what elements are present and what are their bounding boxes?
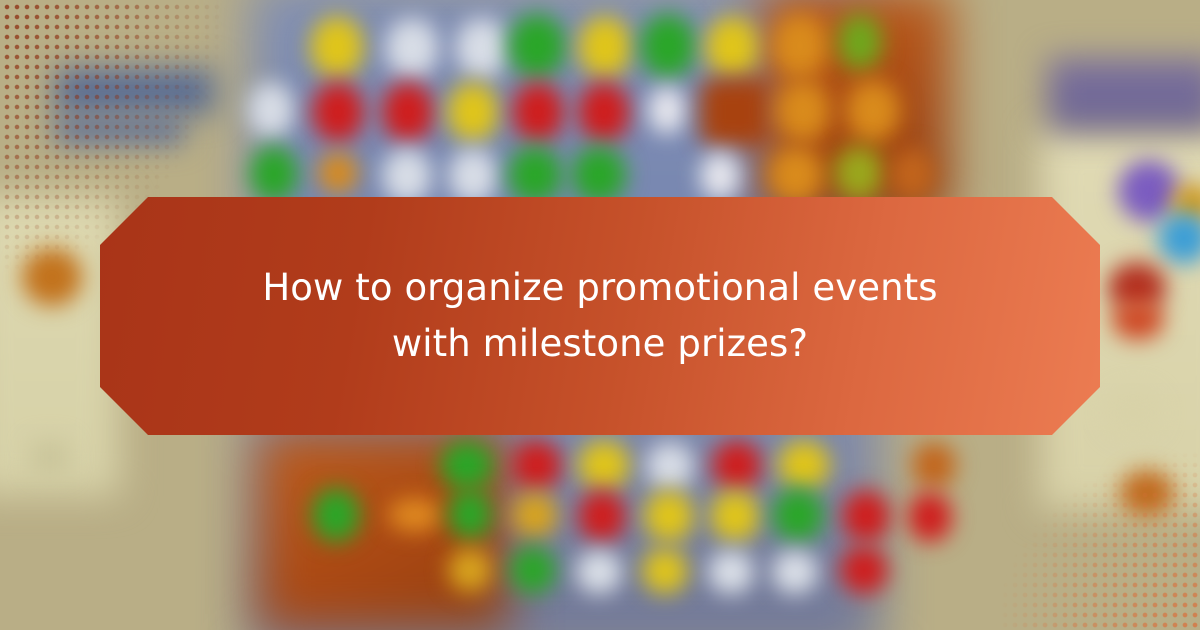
game-piece	[512, 82, 564, 142]
game-piece	[708, 550, 754, 594]
game-piece	[772, 550, 818, 594]
game-piece	[572, 146, 626, 204]
gem-piece-purple	[1118, 160, 1180, 222]
game-piece	[382, 148, 432, 204]
game-piece	[578, 82, 630, 142]
game-piece	[440, 440, 494, 490]
game-piece	[712, 440, 762, 490]
share-card-canvas: How to organize promotional events with …	[0, 0, 1200, 630]
game-piece	[778, 440, 830, 490]
game-piece	[578, 490, 626, 542]
game-piece	[310, 16, 364, 78]
game-piece	[510, 546, 556, 594]
game-tile	[700, 78, 770, 146]
game-piece	[388, 498, 442, 532]
game-piece	[318, 152, 358, 194]
game-piece	[644, 490, 694, 542]
game-piece	[890, 148, 934, 200]
gem-piece-orange	[1112, 300, 1164, 340]
right-side-card-header	[1048, 58, 1200, 130]
game-piece	[710, 490, 760, 542]
game-piece	[512, 440, 562, 490]
game-piece	[578, 440, 630, 490]
game-piece	[834, 146, 884, 200]
title-banner: How to organize promotional events with …	[100, 197, 1100, 435]
game-piece	[508, 146, 562, 204]
game-piece	[640, 14, 696, 78]
game-piece	[447, 82, 499, 142]
game-piece	[385, 18, 439, 78]
game-piece	[512, 492, 558, 538]
game-piece	[248, 82, 294, 138]
game-piece	[448, 488, 492, 540]
game-piece	[705, 16, 759, 78]
card-thumb	[1104, 388, 1162, 438]
left-card-item-thumb	[30, 440, 70, 476]
game-piece	[646, 442, 694, 490]
page-title: How to organize promotional events with …	[220, 260, 980, 372]
game-piece	[838, 14, 882, 70]
game-piece	[576, 550, 622, 594]
game-piece	[642, 548, 688, 594]
game-piece	[776, 80, 830, 142]
game-piece	[846, 80, 900, 142]
game-piece	[448, 548, 492, 592]
left-side-card-subheader	[55, 118, 185, 144]
gem-piece-amber	[1120, 470, 1174, 516]
game-piece	[768, 146, 824, 204]
game-piece	[382, 82, 434, 142]
game-piece	[908, 492, 952, 542]
game-piece	[508, 14, 566, 78]
game-piece	[772, 14, 828, 78]
game-piece	[840, 546, 888, 594]
game-piece	[700, 152, 740, 200]
game-piece	[842, 490, 890, 542]
left-side-card-header	[55, 68, 215, 114]
game-piece	[578, 16, 632, 78]
left-card-item-icon	[22, 248, 82, 306]
game-piece	[312, 82, 364, 142]
game-piece	[455, 18, 509, 78]
game-piece	[250, 146, 298, 202]
game-piece	[648, 86, 686, 134]
game-piece	[448, 148, 498, 204]
game-piece	[312, 488, 360, 542]
game-piece	[772, 488, 824, 542]
game-piece	[912, 442, 956, 488]
